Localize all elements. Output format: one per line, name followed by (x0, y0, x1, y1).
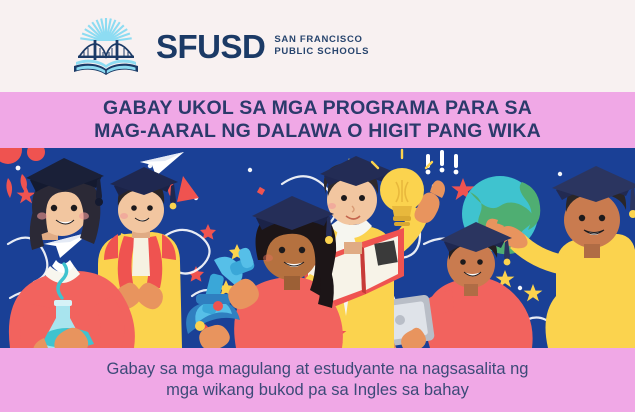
caption-line-2: mga wikang bukod pa sa Ingles sa bahay (166, 380, 469, 401)
students-illustration (0, 148, 635, 348)
title-line-2: MAG-AARAL NG DALAWA O HIGIT PANG WIKA (94, 120, 541, 143)
sfusd-logo-lockup[interactable]: SFUSD SAN FRANCISCO PUBLIC SCHOOLS (68, 15, 369, 77)
page-header: SFUSD SAN FRANCISCO PUBLIC SCHOOLS (0, 0, 635, 92)
sfusd-tagline: SAN FRANCISCO PUBLIC SCHOOLS (274, 34, 369, 58)
caption-line-1: Gabay sa mga magulang at estudyante na n… (107, 359, 529, 380)
sfusd-acronym: SFUSD (156, 30, 265, 63)
sfusd-multilingual-program-guide-poster: SFUSD SAN FRANCISCO PUBLIC SCHOOLS GABAY… (0, 0, 635, 412)
title-line-1: GABAY UKOL SA MGA PROGRAMA PARA SA (103, 97, 532, 120)
sfusd-wordmark: SFUSD SAN FRANCISCO PUBLIC SCHOOLS (156, 30, 369, 63)
title-banner: GABAY UKOL SA MGA PROGRAMA PARA SA MAG-A… (0, 92, 635, 148)
tagline-line-2: PUBLIC SCHOOLS (274, 46, 369, 57)
sfusd-bridge-book-sunburst-logo-icon (68, 15, 144, 77)
tagline-line-1: SAN FRANCISCO (274, 34, 362, 45)
caption-banner: Gabay sa mga magulang at estudyante na n… (0, 348, 635, 412)
